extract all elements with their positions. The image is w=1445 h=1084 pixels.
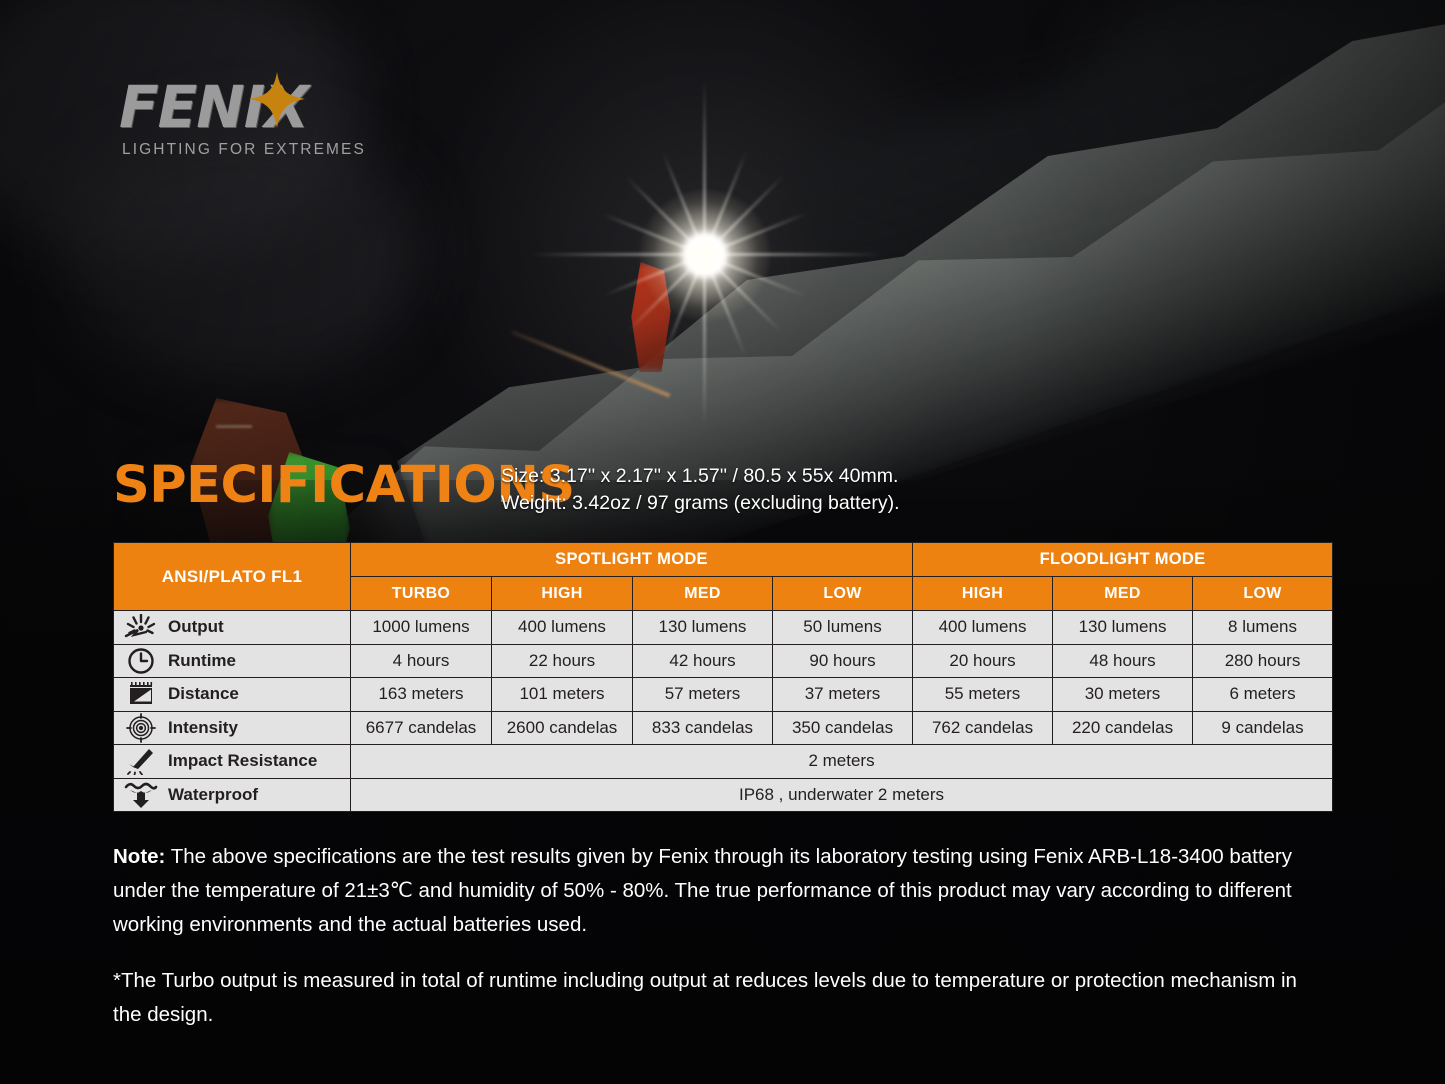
cell-intensity-spotlight-med: 833 candelas [633, 711, 773, 745]
specifications-table: ANSI/PLATO FL1 SPOTLIGHT MODE FLOODLIGHT… [113, 542, 1333, 812]
cell-impact-resistance-value: 2 meters [351, 745, 1333, 779]
cell-runtime-floodlight-med: 48 hours [1053, 644, 1193, 678]
level-header-floodlight-low: LOW [1193, 577, 1333, 611]
level-header-spotlight-turbo: TURBO [351, 577, 492, 611]
level-header-spotlight-low: LOW [773, 577, 913, 611]
note-body: The above specifications are the test re… [113, 845, 1292, 936]
cell-intensity-spotlight-low: 350 candelas [773, 711, 913, 745]
impact-drop-icon [114, 747, 168, 775]
cell-intensity-floodlight-low: 9 candelas [1193, 711, 1333, 745]
beam-distance-icon [114, 680, 168, 708]
cell-distance-floodlight-high: 55 meters [913, 678, 1053, 712]
cell-intensity-floodlight-high: 762 candelas [913, 711, 1053, 745]
target-intensity-icon [114, 713, 168, 743]
cell-output-spotlight-high: 400 lumens [492, 611, 633, 645]
cell-distance-spotlight-low: 37 meters [773, 678, 913, 712]
cell-output-floodlight-med: 130 lumens [1053, 611, 1193, 645]
product-dimensions: Size: 3.17'' x 2.17'' x 1.57'' / 80.5 x … [501, 463, 900, 517]
row-label-impact-resistance: Impact Resistance [114, 745, 351, 779]
row-label-text: Impact Resistance [168, 751, 317, 771]
cell-output-spotlight-med: 130 lumens [633, 611, 773, 645]
four-point-star-icon [247, 72, 307, 128]
cell-distance-spotlight-high: 101 meters [492, 678, 633, 712]
clock-icon [114, 647, 168, 675]
logo-tagline: LIGHTING FOR EXTREMES [122, 141, 449, 159]
cell-intensity-floodlight-med: 220 candelas [1053, 711, 1193, 745]
ansi-plato-label: ANSI/PLATO FL1 [114, 543, 351, 611]
table-row: Impact Resistance 2 meters [114, 745, 1333, 779]
weight-line: Weight: 3.42oz / 97 grams (excluding bat… [501, 490, 900, 517]
row-label-text: Runtime [168, 651, 236, 671]
row-label-text: Waterproof [168, 785, 258, 805]
table-row: Waterproof IP68 , underwater 2 meters [114, 778, 1333, 812]
cell-waterproof-value: IP68 , underwater 2 meters [351, 778, 1333, 812]
footnote-paragraph: *The Turbo output is measured in total o… [113, 964, 1328, 1032]
notes-section: Note: The above specifications are the t… [113, 840, 1328, 1046]
cell-intensity-spotlight-turbo: 6677 candelas [351, 711, 492, 745]
group-header-floodlight: FLOODLIGHT MODE [913, 543, 1333, 577]
cell-runtime-floodlight-low: 280 hours [1193, 644, 1333, 678]
cell-intensity-spotlight-high: 2600 candelas [492, 711, 633, 745]
cell-distance-spotlight-turbo: 163 meters [351, 678, 492, 712]
cell-output-spotlight-low: 50 lumens [773, 611, 913, 645]
table-row: Runtime 4 hours 22 hours 42 hours 90 hou… [114, 644, 1333, 678]
cell-runtime-spotlight-high: 22 hours [492, 644, 633, 678]
note-spacer [113, 956, 1328, 964]
cell-runtime-floodlight-high: 20 hours [913, 644, 1053, 678]
row-label-intensity: Intensity [114, 711, 351, 745]
row-label-text: Distance [168, 684, 239, 704]
level-header-spotlight-med: MED [633, 577, 773, 611]
note-paragraph: Note: The above specifications are the t… [113, 840, 1328, 942]
row-label-runtime: Runtime [114, 644, 351, 678]
row-label-waterproof: Waterproof [114, 778, 351, 812]
table-group-header-row: ANSI/PLATO FL1 SPOTLIGHT MODE FLOODLIGHT… [114, 543, 1333, 577]
cell-runtime-spotlight-med: 42 hours [633, 644, 773, 678]
cell-runtime-spotlight-low: 90 hours [773, 644, 913, 678]
level-header-floodlight-high: HIGH [913, 577, 1053, 611]
cell-distance-floodlight-med: 30 meters [1053, 678, 1193, 712]
row-label-distance: Distance [114, 678, 351, 712]
table-row: Output 1000 lumens 400 lumens 130 lumens… [114, 611, 1333, 645]
row-label-text: Intensity [168, 718, 238, 738]
group-header-spotlight: SPOTLIGHT MODE [351, 543, 913, 577]
light-burst-icon [114, 614, 168, 640]
row-label-output: Output [114, 611, 351, 645]
note-label: Note: [113, 845, 165, 868]
table-row: Intensity 6677 candelas 2600 candelas 83… [114, 711, 1333, 745]
cell-runtime-spotlight-turbo: 4 hours [351, 644, 492, 678]
level-header-floodlight-med: MED [1053, 577, 1193, 611]
waterproof-icon [114, 781, 168, 809]
level-header-spotlight-high: HIGH [492, 577, 633, 611]
cell-distance-spotlight-med: 57 meters [633, 678, 773, 712]
size-line: Size: 3.17'' x 2.17'' x 1.57'' / 80.5 x … [501, 463, 900, 490]
cell-output-spotlight-turbo: 1000 lumens [351, 611, 492, 645]
fenix-logo: FENIX LIGHTING FOR EXTREMES [119, 78, 449, 166]
cell-output-floodlight-high: 400 lumens [913, 611, 1053, 645]
cell-output-floodlight-low: 8 lumens [1193, 611, 1333, 645]
table-row: Distance 163 meters 101 meters 57 meters… [114, 678, 1333, 712]
row-label-text: Output [168, 617, 224, 637]
specifications-header: SPECIFICATIONS Size: 3.17'' x 2.17'' x 1… [113, 460, 1353, 522]
cell-distance-floodlight-low: 6 meters [1193, 678, 1333, 712]
